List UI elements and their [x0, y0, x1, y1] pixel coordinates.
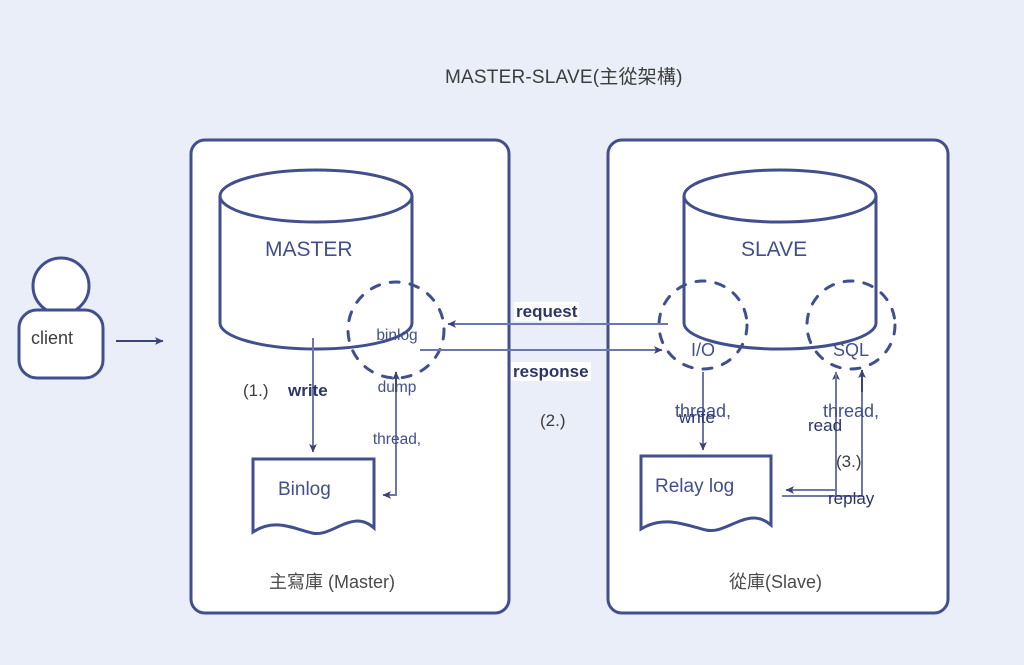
master-write-step: (1.) — [243, 381, 269, 400]
sql-read-step: (3.) — [836, 452, 862, 471]
sql-read-label: read — [808, 416, 842, 435]
master-write-label: write — [288, 381, 328, 400]
replication-step: (2.) — [540, 411, 566, 430]
io-thread-line1: I/O — [660, 340, 746, 360]
io-write-label: write — [679, 408, 715, 427]
slave-panel-caption: 從庫(Slave) — [729, 572, 822, 592]
binlog-dump-thread-line3: thread, — [356, 431, 438, 448]
master-panel-caption: 主寫庫 (Master) — [269, 572, 395, 592]
relay-log-document-label: Relay log — [655, 476, 734, 497]
master-db-label: MASTER — [265, 238, 353, 262]
sql-thread-line1: SQL — [808, 340, 894, 360]
binlog-dump-thread-line2: dump — [356, 379, 438, 396]
person-icon — [19, 258, 103, 378]
client-label: client — [31, 328, 73, 348]
slave-db-label: SLAVE — [741, 238, 807, 262]
request-label: request — [514, 302, 579, 321]
sql-replay-label: replay — [828, 489, 874, 508]
binlog-dump-thread-line1: binlog — [356, 327, 438, 344]
response-label: response — [511, 362, 591, 381]
sql-thread-label: SQL thread, — [808, 300, 894, 461]
binlog-dump-thread-label: binlog dump thread, — [356, 292, 438, 483]
io-thread-label: I/O thread, — [660, 300, 746, 461]
page-title: MASTER-SLAVE(主從架構) — [445, 67, 683, 88]
diagram-canvas: MASTER-SLAVE(主從架構) client MASTER SLAVE b… — [0, 0, 1024, 665]
binlog-document-label: Binlog — [278, 479, 331, 500]
